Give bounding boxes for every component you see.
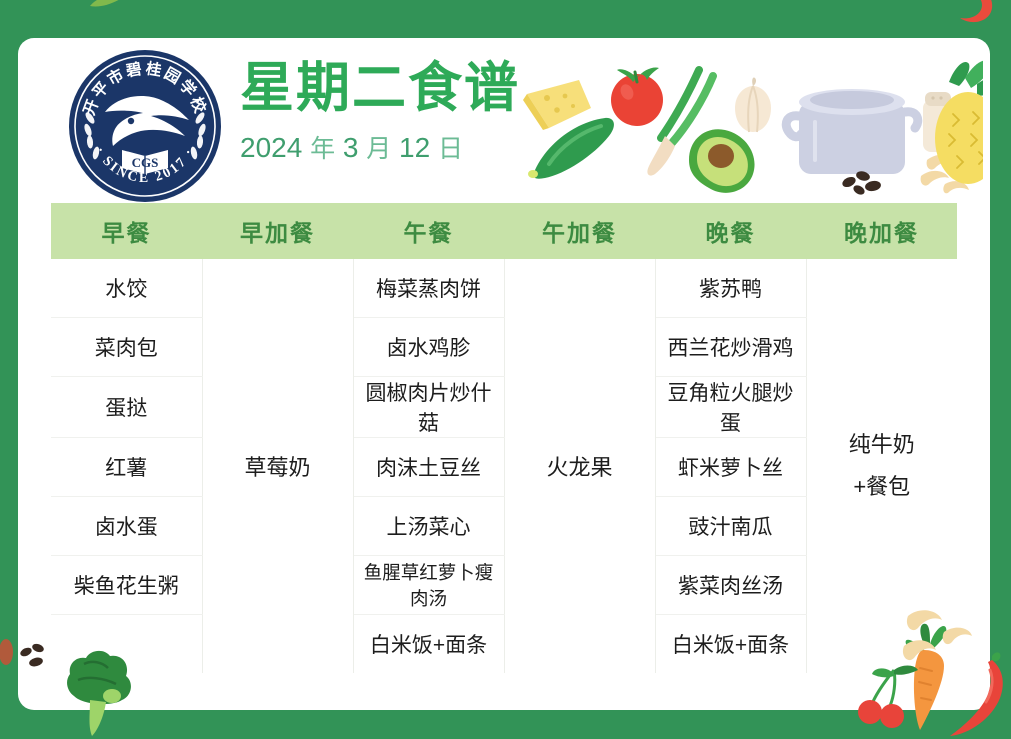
breakfast-item: 水饺 [51,259,202,318]
dinner-item: 西兰花炒滑鸡 [655,318,806,377]
page-title: 星期二食谱 [240,60,520,117]
lunch-item: 肉沫土豆丝 [353,438,504,497]
svg-text:CGS: CGS [132,155,159,170]
menu-date: 2024 年 3 月 12 日 [240,129,520,165]
menu-card: 开平市碧桂园学校 · SINCE 2017 · [18,38,990,710]
breakfast-item [51,615,202,674]
column-header-dinner: 晚餐 [655,203,806,259]
breakfast-item: 柴鱼花生粥 [51,556,202,615]
breakfast-item: 红薯 [51,438,202,497]
date-month: 3 [343,132,359,163]
dinner-item: 豉汁南瓜 [655,497,806,556]
date-day-unit: 日 [438,135,463,163]
morning-snack-item: 草莓奶 [202,259,353,673]
menu-header: 开平市碧桂园学校 · SINCE 2017 · [18,38,990,203]
lunch-item: 白米饭+面条 [353,615,504,674]
dinner-item: 紫菜肉丝汤 [655,556,806,615]
breakfast-item: 菜肉包 [51,318,202,377]
column-header-breakfast: 早餐 [51,203,202,259]
breakfast-item: 蛋挞 [51,377,202,438]
avocado-icon [689,129,755,193]
column-header-afternoon-snack: 午加餐 [504,203,655,259]
frame-decoration-top-left [88,0,128,14]
date-year: 2024 [240,132,302,163]
cheese-icon [523,80,591,130]
lunch-item: 上汤菜心 [353,497,504,556]
column-header-lunch: 午餐 [353,203,504,259]
lunch-item: 卤水鸡胗 [353,318,504,377]
tomato-icon [611,67,663,126]
dinner-item: 紫苏鸭 [655,259,806,318]
table-header-row: 早餐 早加餐 午餐 午加餐 晚餐 晚加餐 [51,203,957,259]
date-day: 12 [399,132,430,163]
date-month-unit: 月 [366,135,391,163]
date-year-unit: 年 [310,135,335,163]
header-food-illustrations [513,52,983,202]
frame-decoration-top-right [920,0,1010,32]
evening-snack-line-1: 纯牛奶 [809,424,956,466]
column-header-morning-snack: 早加餐 [202,203,353,259]
menu-table: 早餐 早加餐 午餐 午加餐 晚餐 晚加餐 水饺 草莓奶 梅菜蒸肉饼 火龙果 紫苏… [51,203,957,673]
school-logo-icon: 开平市碧桂园学校 · SINCE 2017 · [65,46,225,206]
dinner-item: 白米饭+面条 [655,615,806,674]
evening-snack-line-2: +餐包 [809,466,956,508]
pineapple-icon [935,60,983,184]
afternoon-snack-item: 火龙果 [504,259,655,673]
cucumber-icon [528,118,614,179]
evening-snack-item: 纯牛奶 +餐包 [806,259,957,673]
lunch-item: 梅菜蒸肉饼 [353,259,504,318]
title-block: 星期二食谱 2024 年 3 月 12 日 [240,60,520,165]
lunch-item: 圆椒肉片炒什菇 [353,377,504,438]
dinner-item: 虾米萝卜丝 [655,438,806,497]
breakfast-item: 卤水蛋 [51,497,202,556]
pot-icon [786,89,918,174]
table-row: 水饺 草莓奶 梅菜蒸肉饼 火龙果 紫苏鸭 纯牛奶 +餐包 [51,259,957,318]
lunch-item: 鱼腥草红萝卜瘦肉汤 [353,556,504,615]
column-header-evening-snack: 晚加餐 [806,203,957,259]
dinner-item: 豆角粒火腿炒蛋 [655,377,806,438]
garlic-icon [735,77,771,132]
